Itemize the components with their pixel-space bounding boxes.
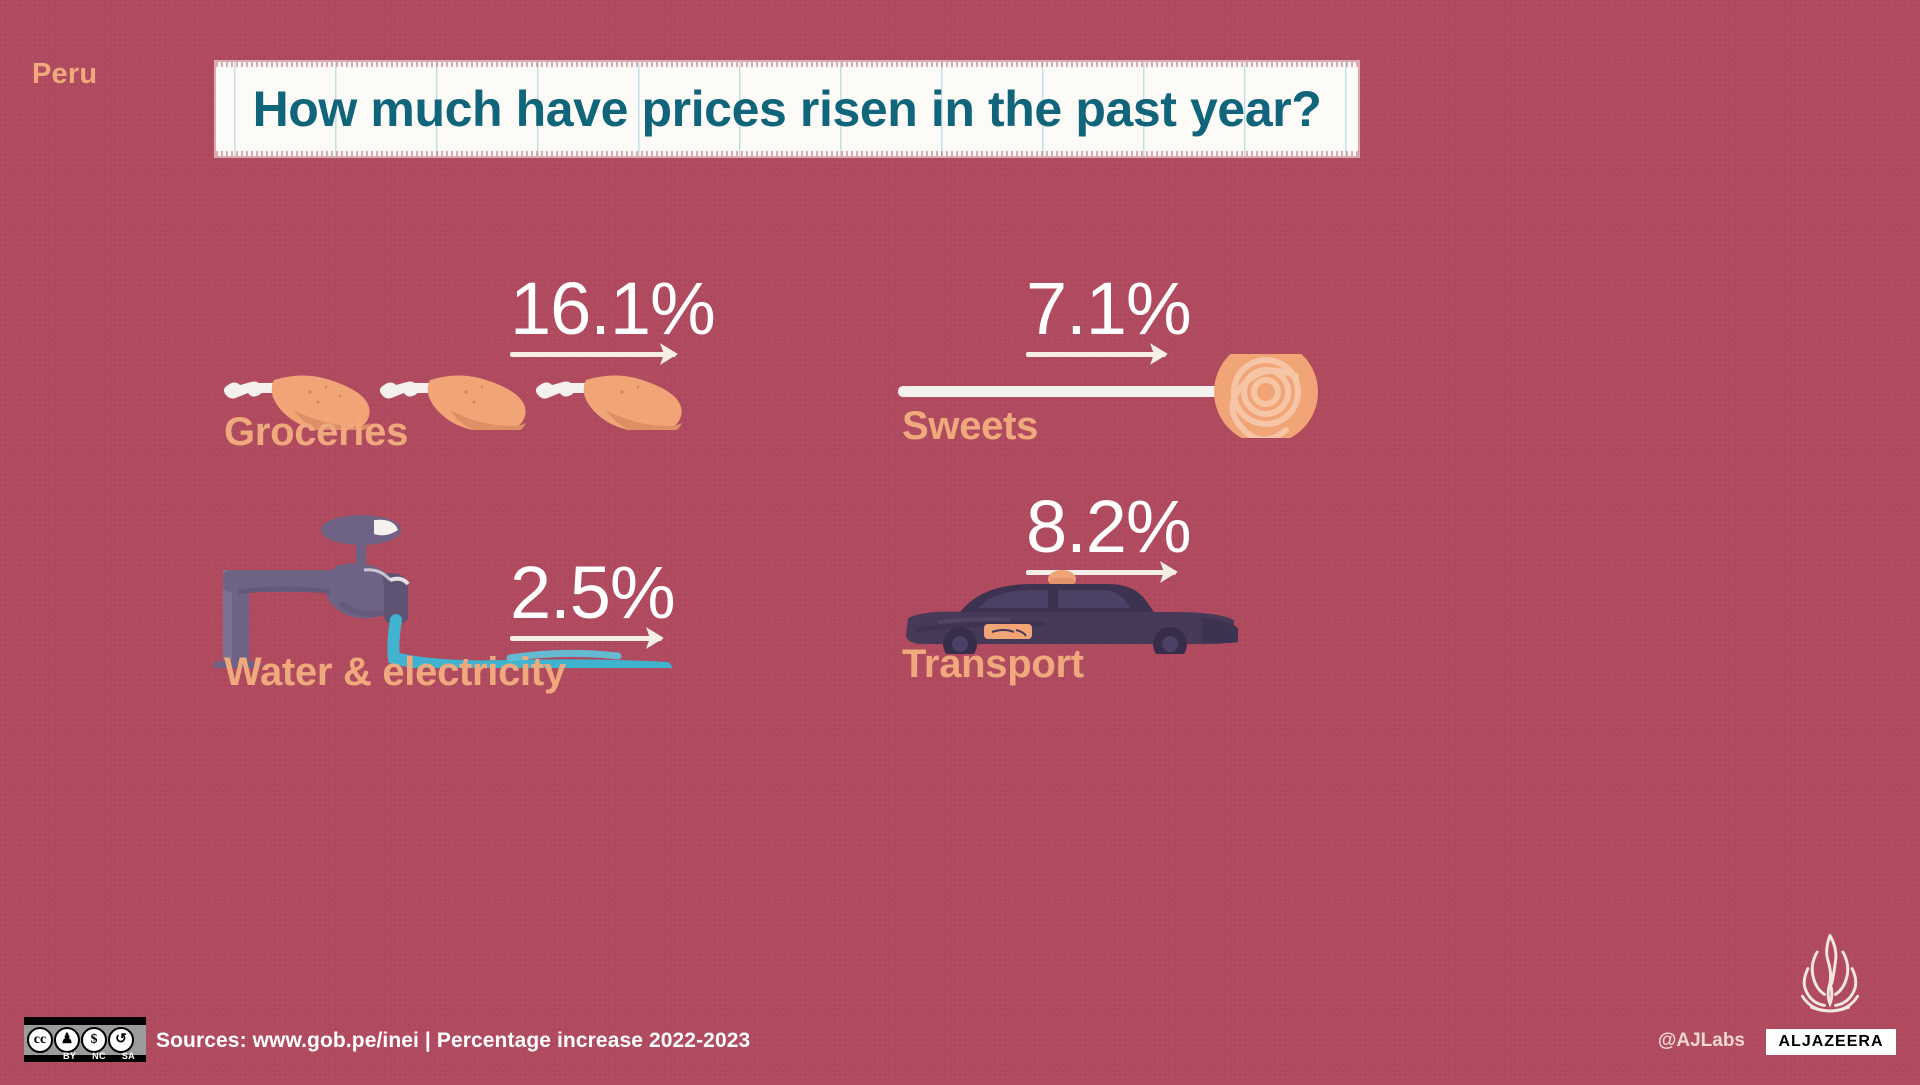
stat-label-transport: Transport xyxy=(902,642,1084,687)
aljazeera-flame-icon xyxy=(1784,930,1876,1022)
cc-nc-icon: $ xyxy=(81,1027,107,1053)
value-arrow-transport: 8.2% xyxy=(1026,490,1176,575)
stat-cell-groceries: 16.1% xyxy=(222,272,922,492)
stat-label-water: Water & electricity xyxy=(224,650,566,695)
sources-text: Sources: www.gob.pe/inei | Percentage in… xyxy=(156,1029,750,1053)
arrow-groceries xyxy=(510,352,676,357)
value-arrow-sweets: 7.1% xyxy=(1026,272,1166,357)
cc-license-badge[interactable]: cc ♟ $ ↺ BY NC SA xyxy=(24,1017,146,1062)
cc-caption-nc: NC xyxy=(92,1051,106,1061)
ajlabs-handle: @AJLabs xyxy=(1658,1030,1745,1052)
aljazeera-wordmark: ALJAZEERA xyxy=(1766,1029,1896,1055)
cc-icon-row: cc ♟ $ ↺ xyxy=(24,1025,146,1055)
cc-caption-sa: SA xyxy=(122,1051,135,1061)
stat-value-transport: 8.2% xyxy=(1026,490,1176,564)
faucet-icon xyxy=(214,508,684,668)
cc-caption-row: BY NC SA xyxy=(27,1051,143,1061)
stat-cell-sweets: 7.1% Sweets xyxy=(898,272,1598,492)
cc-sa-icon: ↺ xyxy=(108,1027,134,1053)
infographic-canvas: Peru How much have prices risen in the p… xyxy=(0,0,1920,1085)
country-label: Peru xyxy=(32,58,97,91)
stat-cell-transport: 8.2% T xyxy=(898,490,1598,720)
value-arrow-groceries: 16.1% xyxy=(510,272,676,357)
cc-by-icon: ♟ xyxy=(54,1027,80,1053)
cc-icon: cc xyxy=(27,1027,53,1053)
page-title: How much have prices risen in the past y… xyxy=(216,62,1358,156)
stat-label-groceries: Groceries xyxy=(224,410,408,455)
stat-value-sweets: 7.1% xyxy=(1026,272,1166,346)
aljazeera-brand-text: ALJAZEERA xyxy=(1778,1033,1883,1051)
title-banner: How much have prices risen in the past y… xyxy=(216,62,1358,156)
stat-value-groceries: 16.1% xyxy=(510,272,676,346)
stat-label-sweets: Sweets xyxy=(902,404,1038,449)
stat-cell-water: 2.5% xyxy=(222,498,922,728)
cc-caption-by: BY xyxy=(63,1051,76,1061)
